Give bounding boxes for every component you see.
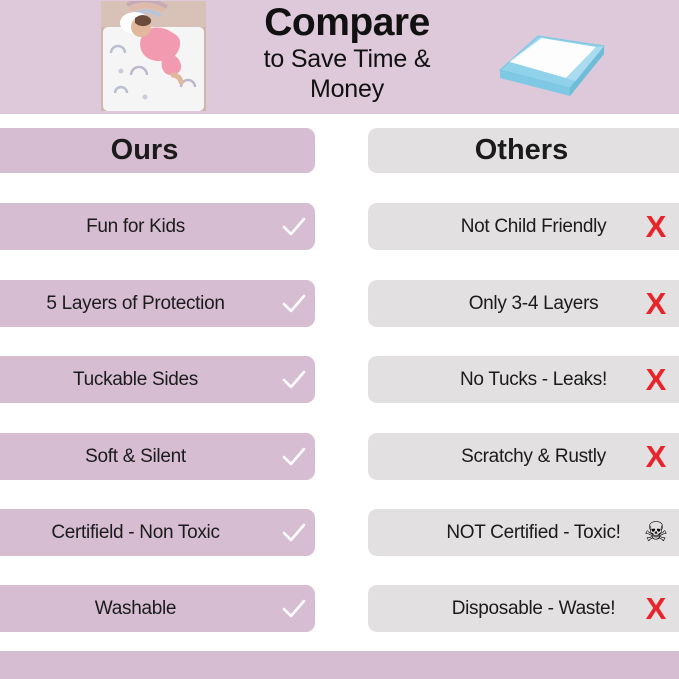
column-header-others-label: Others	[368, 134, 679, 167]
table-row: Certifield - Non Toxic NOT Certified - T…	[0, 509, 679, 556]
others-cell: NOT Certified - Toxic!	[368, 509, 679, 556]
cross-icon: X	[636, 433, 676, 480]
ours-feature-label: Certifield - Non Toxic	[0, 522, 273, 544]
column-header-others: Others	[368, 128, 679, 173]
cross-icon: X	[636, 356, 676, 403]
others-feature-label: Disposable - Waste!	[368, 598, 679, 620]
ours-feature-label: Fun for Kids	[0, 216, 273, 238]
check-icon	[273, 213, 315, 241]
others-feature-label: Not Child Friendly	[368, 216, 679, 238]
table-row: 5 Layers of Protection Only 3-4 Layers X	[0, 280, 679, 327]
comparison-table: Ours Others Fun for Kids Not Child Frien…	[0, 114, 679, 644]
header-band: Compare to Save Time & Money	[0, 0, 679, 114]
ours-cell: 5 Layers of Protection	[0, 280, 315, 327]
ours-feature-label: 5 Layers of Protection	[0, 293, 273, 315]
page-subtitle-line2: Money	[222, 74, 472, 104]
table-row: Fun for Kids Not Child Friendly X	[0, 203, 679, 250]
table-row: Soft & Silent Scratchy & Rustly X	[0, 433, 679, 480]
others-cell: No Tucks - Leaks!	[368, 356, 679, 403]
ours-cell: Washable	[0, 585, 315, 632]
ours-feature-label: Tuckable Sides	[0, 369, 273, 391]
folded-mattress-pad-photo	[492, 12, 612, 100]
cross-icon: X	[636, 203, 676, 250]
ours-feature-label: Soft & Silent	[0, 446, 273, 468]
others-feature-label: NOT Certified - Toxic!	[368, 522, 679, 544]
table-row: Washable Disposable - Waste! X	[0, 585, 679, 632]
page-subtitle-line1: to Save Time &	[222, 44, 472, 74]
baby-on-mattress-pad-photo	[101, 1, 206, 111]
table-header-row: Ours Others	[0, 128, 679, 175]
others-feature-label: No Tucks - Leaks!	[368, 369, 679, 391]
others-cell: Not Child Friendly	[368, 203, 679, 250]
ours-cell: Fun for Kids	[0, 203, 315, 250]
cross-icon: X	[636, 280, 676, 327]
others-feature-label: Only 3-4 Layers	[368, 293, 679, 315]
footer-band	[0, 651, 679, 679]
ours-cell: Soft & Silent	[0, 433, 315, 480]
ours-feature-label: Washable	[0, 598, 273, 620]
others-feature-label: Scratchy & Rustly	[368, 446, 679, 468]
check-icon	[273, 443, 315, 471]
table-row: Tuckable Sides No Tucks - Leaks! X	[0, 356, 679, 403]
check-icon	[273, 366, 315, 394]
page-title: Compare	[222, 2, 472, 44]
cross-icon: X	[636, 585, 676, 632]
others-cell: Only 3-4 Layers	[368, 280, 679, 327]
column-header-ours: Ours	[0, 128, 315, 173]
others-cell: Scratchy & Rustly	[368, 433, 679, 480]
check-icon	[273, 519, 315, 547]
header-title-block: Compare to Save Time & Money	[222, 2, 472, 104]
skull-and-crossbones-icon: ☠	[636, 509, 676, 556]
check-icon	[273, 290, 315, 318]
others-cell: Disposable - Waste!	[368, 585, 679, 632]
ours-cell: Tuckable Sides	[0, 356, 315, 403]
check-icon	[273, 595, 315, 623]
column-header-ours-label: Ours	[0, 134, 315, 167]
ours-cell: Certifield - Non Toxic	[0, 509, 315, 556]
